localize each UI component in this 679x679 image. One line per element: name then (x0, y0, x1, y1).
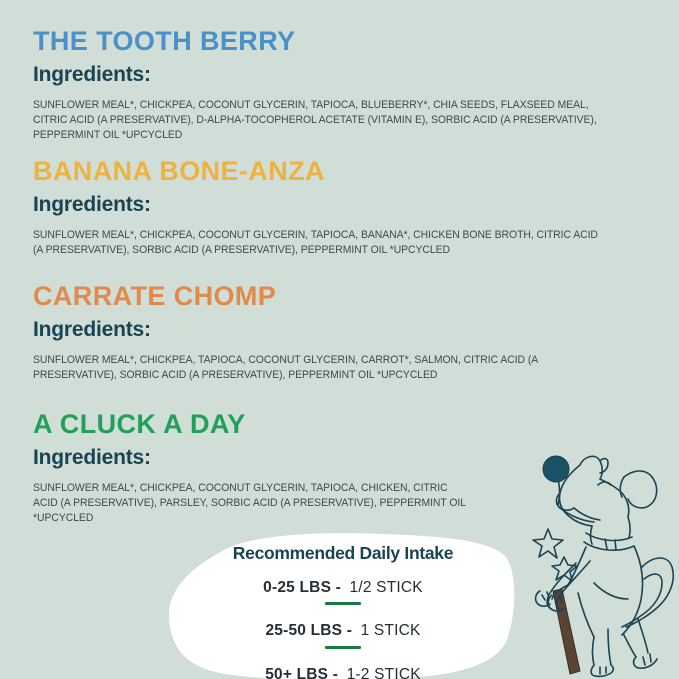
intake-dose: 1/2 STICK (350, 579, 423, 596)
product-title: BANANA BONE-ANZA (33, 158, 643, 185)
intake-weight-range: 0-25 LBS - (263, 579, 341, 596)
product-block-carrate-chomp: CARRATE CHOMP Ingredients: SUNFLOWER MEA… (33, 283, 643, 383)
dog-balancing-ball-icon (512, 443, 679, 679)
ingredients-list: SUNFLOWER MEAL*, CHICKPEA, TAPIOCA, COCO… (33, 353, 598, 383)
ingredients-label: Ingredients: (33, 194, 643, 215)
daily-intake-row: 25-50 LBS - 1 STICK (168, 623, 518, 639)
product-block-banana-bone-anza: BANANA BONE-ANZA Ingredients: SUNFLOWER … (33, 158, 643, 258)
intake-dose: 1-2 STICK (347, 666, 421, 679)
product-title: CARRATE CHOMP (33, 283, 643, 310)
daily-intake-title: Recommended Daily Intake (168, 545, 518, 563)
ingredients-list: SUNFLOWER MEAL*, CHICKPEA, COCONUT GLYCE… (33, 228, 598, 258)
ingredients-label: Ingredients: (33, 319, 643, 340)
product-block-a-cluck-a-day: A CLUCK A DAY Ingredients: SUNFLOWER MEA… (33, 411, 513, 525)
ingredients-list: SUNFLOWER MEAL*, CHICKPEA, COCONUT GLYCE… (33, 481, 470, 525)
ingredients-label: Ingredients: (33, 447, 513, 468)
product-block-tooth-berry: THE TOOTH BERRY Ingredients: SUNFLOWER M… (33, 28, 643, 142)
product-title: THE TOOTH BERRY (33, 28, 643, 55)
daily-intake-row: 0-25 LBS - 1/2 STICK (168, 580, 518, 596)
product-title: A CLUCK A DAY (33, 411, 513, 438)
daily-intake-panel: Recommended Daily Intake 0-25 LBS - 1/2 … (168, 533, 518, 679)
intake-weight-range: 25-50 LBS - (265, 622, 352, 639)
daily-intake-row: 50+ LBS - 1-2 STICK (168, 667, 518, 679)
intake-divider (325, 602, 361, 605)
intake-divider (325, 646, 361, 649)
ingredients-list: SUNFLOWER MEAL*, CHICKPEA, COCONUT GLYCE… (33, 98, 598, 142)
intake-weight-range: 50+ LBS - (265, 666, 338, 679)
ingredients-label: Ingredients: (33, 64, 643, 85)
intake-dose: 1 STICK (361, 622, 421, 639)
product-ingredients-panel: THE TOOTH BERRY Ingredients: SUNFLOWER M… (0, 0, 679, 679)
